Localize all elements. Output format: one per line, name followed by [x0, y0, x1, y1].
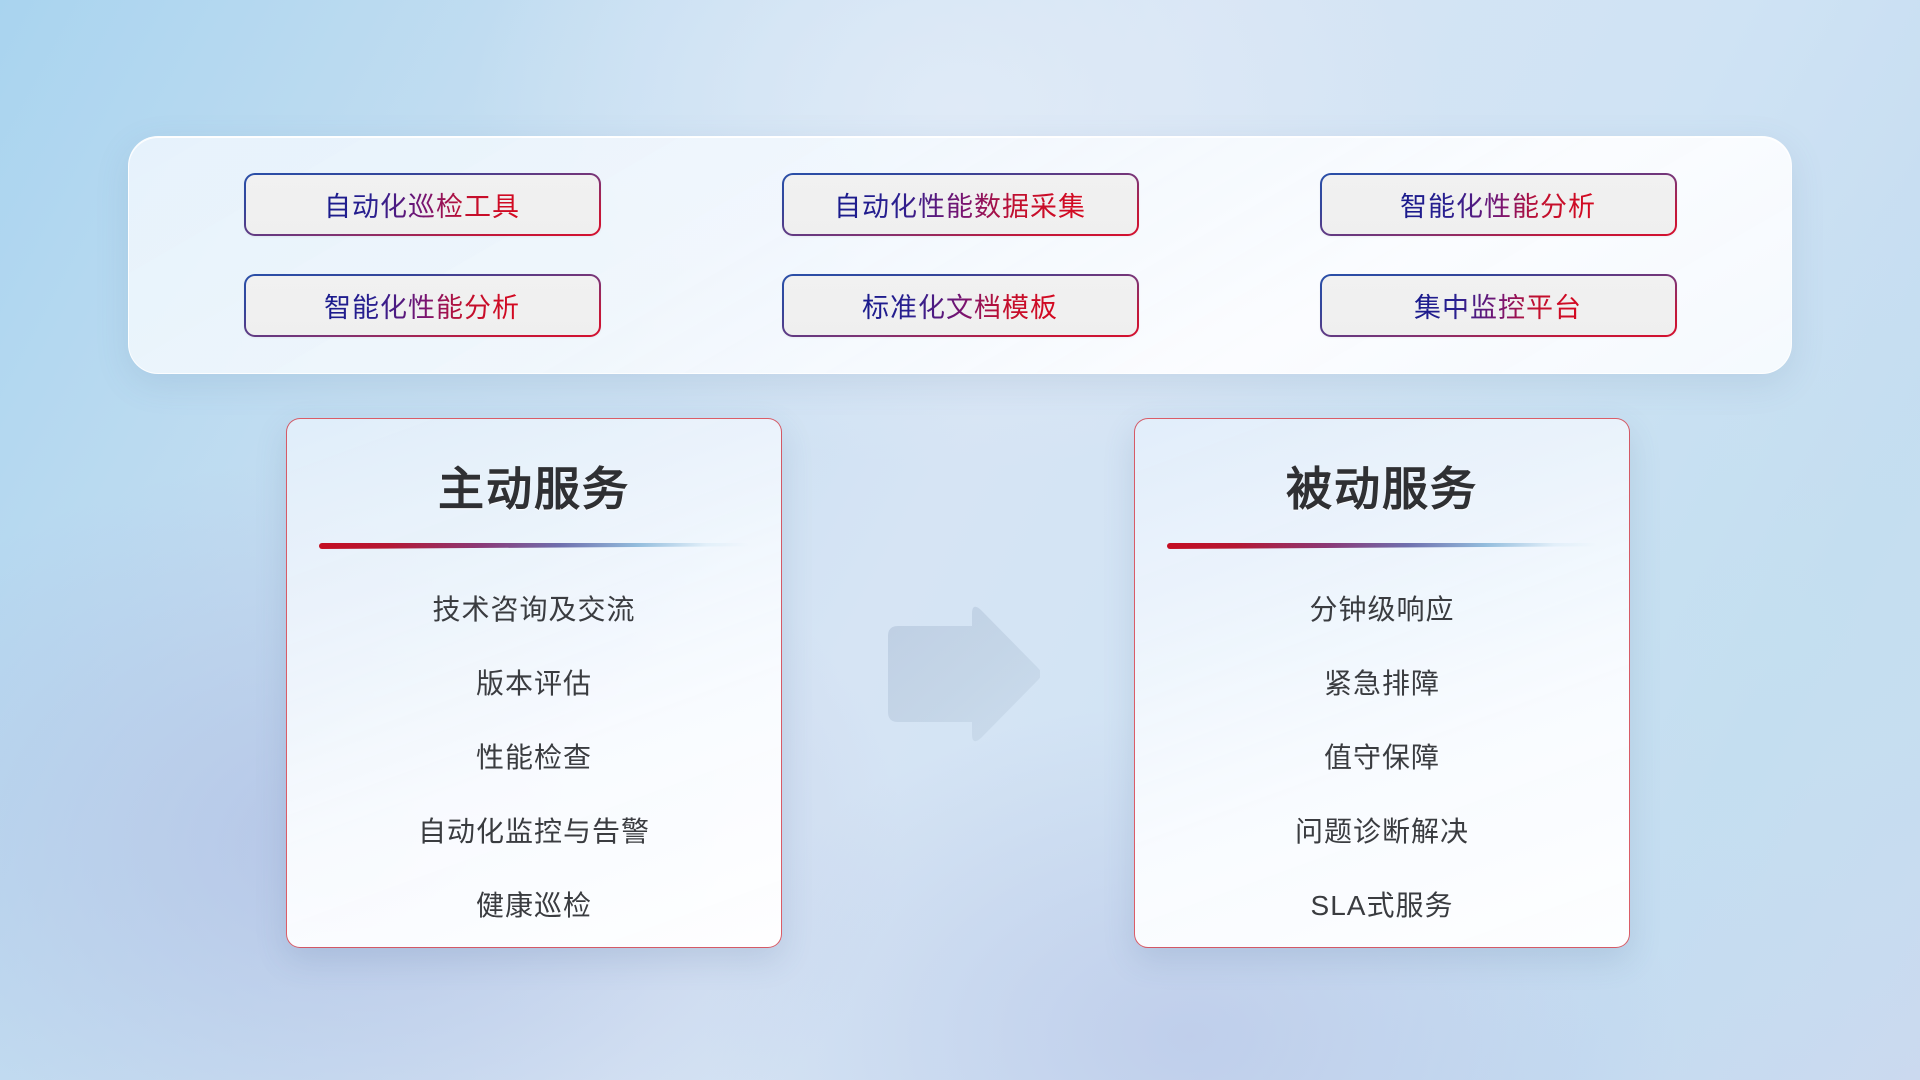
capability-pill-1[interactable]: 自动化巡检工具	[244, 173, 601, 236]
capability-panel: 自动化巡检工具 自动化性能数据采集 智能化性能分析 智能化性能分析 标准化文档模…	[128, 136, 1792, 374]
service-item: 版本评估	[287, 645, 781, 719]
slide-canvas: 自动化巡检工具 自动化性能数据采集 智能化性能分析 智能化性能分析 标准化文档模…	[0, 0, 1920, 1080]
service-item: 紧急排障	[1135, 645, 1629, 719]
service-item: 问题诊断解决	[1135, 793, 1629, 867]
capability-pill-label: 自动化巡检工具	[324, 185, 520, 224]
card-divider	[1167, 543, 1597, 549]
capability-pill-grid: 自动化巡检工具 自动化性能数据采集 智能化性能分析 智能化性能分析 标准化文档模…	[129, 137, 1791, 373]
capability-pill-5[interactable]: 标准化文档模板	[782, 274, 1139, 337]
service-item: 分钟级响应	[1135, 571, 1629, 645]
capability-pill-6[interactable]: 集中监控平台	[1320, 274, 1677, 337]
service-item-list: 分钟级响应 紧急排障 值守保障 问题诊断解决 SLA式服务	[1135, 571, 1629, 941]
arrow-right-icon	[880, 600, 1040, 752]
service-item: 值守保障	[1135, 719, 1629, 793]
service-item: 性能检查	[287, 719, 781, 793]
service-item-list: 技术咨询及交流 版本评估 性能检查 自动化监控与告警 健康巡检	[287, 571, 781, 941]
card-title: 主动服务	[287, 453, 781, 519]
capability-pill-label: 标准化文档模板	[862, 286, 1058, 325]
capability-pill-label: 集中监控平台	[1414, 286, 1582, 325]
capability-pill-4[interactable]: 智能化性能分析	[244, 274, 601, 337]
capability-pill-label: 自动化性能数据采集	[834, 185, 1086, 224]
capability-pill-label: 智能化性能分析	[324, 286, 520, 325]
capability-pill-3[interactable]: 智能化性能分析	[1320, 173, 1677, 236]
card-divider	[319, 543, 749, 549]
service-item: 技术咨询及交流	[287, 571, 781, 645]
service-item: 自动化监控与告警	[287, 793, 781, 867]
service-card-proactive: 主动服务 技术咨询及交流 版本评估 性能检查 自动化监控与告警 健康巡检	[286, 418, 782, 948]
card-title: 被动服务	[1135, 453, 1629, 519]
capability-pill-label: 智能化性能分析	[1400, 185, 1596, 224]
service-item: SLA式服务	[1135, 867, 1629, 941]
service-item: 健康巡检	[287, 867, 781, 941]
service-card-reactive: 被动服务 分钟级响应 紧急排障 值守保障 问题诊断解决 SLA式服务	[1134, 418, 1630, 948]
capability-pill-2[interactable]: 自动化性能数据采集	[782, 173, 1139, 236]
